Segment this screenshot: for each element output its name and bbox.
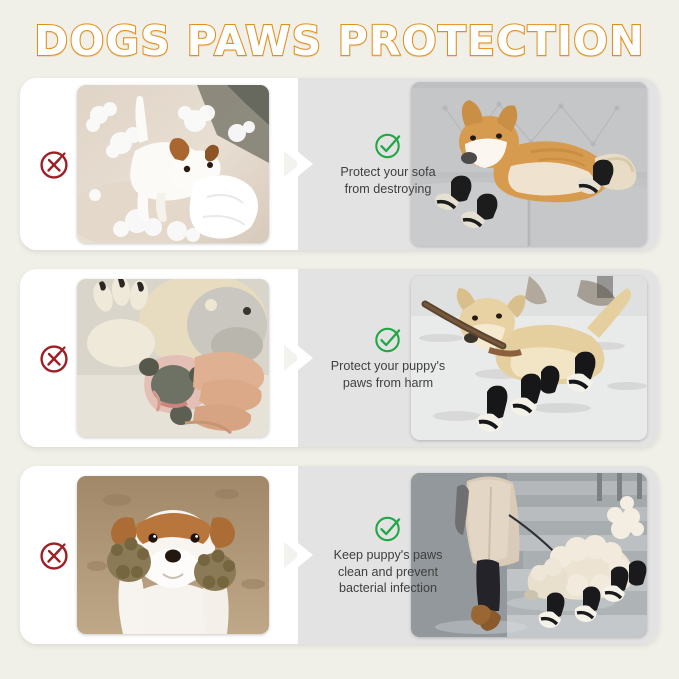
page-title: DOGS PAWS PROTECTION — [34, 21, 644, 62]
x-circle-icon — [38, 147, 72, 181]
solution-half: Keep puppy's paws clean and prevent bact… — [298, 466, 659, 644]
x-circle-icon — [38, 341, 72, 375]
chevron-right-icon — [297, 345, 313, 371]
chevron-right-icon — [297, 151, 313, 177]
problem-photo — [77, 279, 269, 437]
problem-half — [20, 269, 298, 447]
caption-text: Protect your sofa from destroying — [312, 164, 464, 197]
benefit-panel-sofa: Protect your sofa from destroying — [20, 78, 659, 250]
problem-photo — [77, 85, 269, 243]
problem-photo — [77, 476, 269, 634]
solution-caption: Protect your sofa from destroying — [312, 130, 464, 197]
problem-half — [20, 466, 298, 644]
caption-text: Protect your puppy's paws from harm — [312, 358, 464, 391]
check-circle-icon — [373, 324, 403, 354]
benefit-panel-list: Protect your sofa from destroying — [0, 78, 679, 644]
solution-caption: Keep puppy's paws clean and prevent bact… — [312, 513, 464, 597]
benefit-panel-clean: Keep puppy's paws clean and prevent bact… — [20, 466, 659, 644]
benefit-panel-harm: Protect your puppy's paws from harm — [20, 269, 659, 447]
check-circle-icon — [373, 513, 403, 543]
check-circle-icon — [373, 130, 403, 160]
problem-half — [20, 78, 298, 250]
caption-text: Keep puppy's paws clean and prevent bact… — [312, 547, 464, 597]
title-banner: DOGS PAWS PROTECTION — [0, 0, 679, 78]
solution-half: Protect your puppy's paws from harm — [298, 269, 659, 447]
chevron-right-icon — [297, 542, 313, 568]
solution-caption: Protect your puppy's paws from harm — [312, 324, 464, 391]
solution-half: Protect your sofa from destroying — [298, 78, 659, 250]
x-circle-icon — [38, 538, 72, 572]
